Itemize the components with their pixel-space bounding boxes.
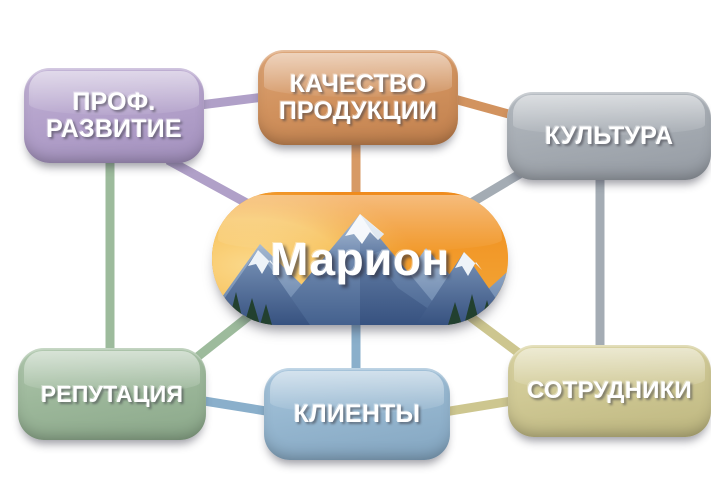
edge-clients-staff bbox=[444, 400, 518, 412]
node-label: СОТРУДНИКИ bbox=[519, 378, 700, 403]
center-node-label: Марион bbox=[270, 232, 450, 286]
node-culture[interactable]: КУЛЬТУРА bbox=[507, 92, 711, 180]
node-label: КАЧЕСТВО ПРОДУКЦИИ bbox=[271, 71, 445, 124]
node-clients[interactable]: КЛИЕНТЫ bbox=[264, 368, 450, 460]
node-label: КЛИЕНТЫ bbox=[286, 401, 429, 428]
node-prof-development[interactable]: ПРОФ. РАЗВИТИЕ bbox=[24, 68, 204, 163]
diagram-canvas: ПРОФ. РАЗВИТИЕ КАЧЕСТВО ПРОДУКЦИИ КУЛЬТУ… bbox=[0, 0, 711, 500]
node-label: КУЛЬТУРА bbox=[537, 123, 681, 150]
node-reputation[interactable]: РЕПУТАЦИЯ bbox=[18, 348, 206, 440]
center-node-marion[interactable]: Марион bbox=[212, 192, 508, 325]
node-staff[interactable]: СОТРУДНИКИ bbox=[508, 345, 711, 437]
node-product-quality[interactable]: КАЧЕСТВО ПРОДУКЦИИ bbox=[258, 50, 458, 145]
node-label: ПРОФ. РАЗВИТИЕ bbox=[38, 89, 190, 142]
node-label: РЕПУТАЦИЯ bbox=[33, 382, 191, 406]
edge-reputation-clients bbox=[198, 400, 272, 412]
